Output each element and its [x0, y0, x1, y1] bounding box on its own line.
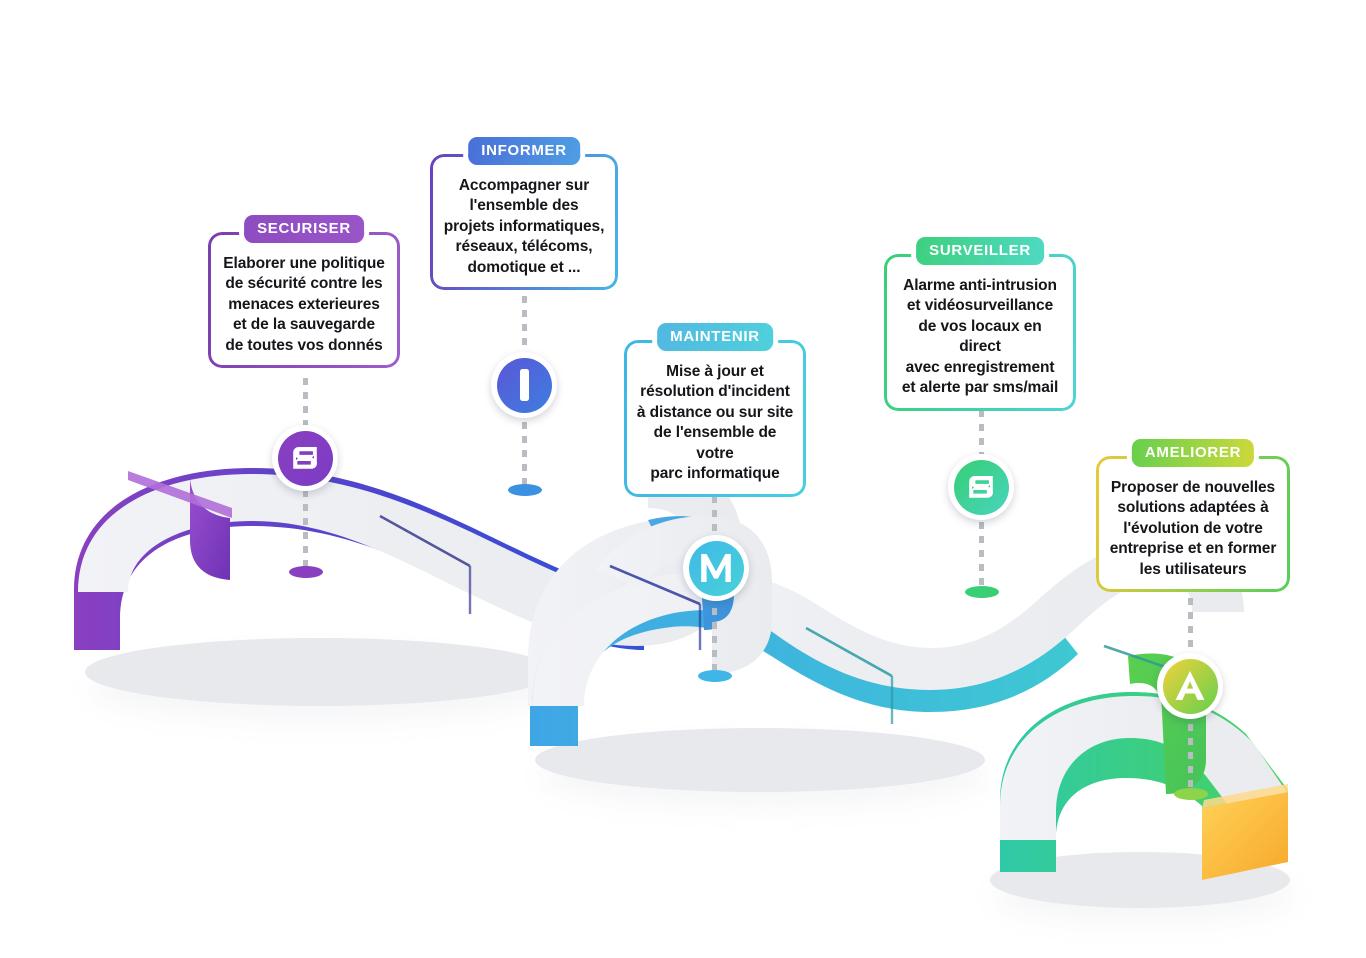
arrow-up-a-icon [1174, 670, 1206, 702]
card-informer[interactable]: INFORMER Accompagner sur l'ensemble des … [430, 154, 618, 290]
card-text-maintenir: Mise à jour et résolution d'incident à d… [636, 362, 794, 485]
card-text-securiser: Elaborer une politique de sécurité contr… [220, 254, 388, 356]
badge-informer: INFORMER [468, 137, 580, 165]
ground-dot-informer [508, 484, 542, 496]
ground-dot-maintenir [698, 670, 732, 682]
card-text-informer: Accompagner sur l'ensemble des projets i… [442, 176, 606, 278]
shield-s-icon [966, 470, 996, 504]
infographic-canvas: SECURISER Elaborer une politique de sécu… [0, 0, 1366, 958]
ground-dot-ameliorer [1174, 788, 1208, 800]
card-text-surveiller: Alarme anti-intrusion et vidéosurveillan… [896, 276, 1064, 399]
information-i-icon [518, 369, 531, 401]
maintenance-m-icon [699, 552, 733, 584]
badge-surveiller: SURVEILLER [916, 237, 1044, 265]
badge-ameliorer: AMELIORER [1132, 439, 1254, 467]
card-maintenir[interactable]: MAINTENIR Mise à jour et résolution d'in… [624, 340, 806, 497]
milestone-marker-ameliorer[interactable] [1157, 653, 1223, 719]
card-ameliorer[interactable]: AMELIORER Proposer de nouvelles solution… [1096, 456, 1290, 592]
badge-maintenir: MAINTENIR [657, 323, 773, 351]
milestone-marker-surveiller[interactable] [948, 454, 1014, 520]
ground-dot-surveiller [965, 586, 999, 598]
milestone-marker-informer[interactable] [491, 352, 557, 418]
badge-securiser: SECURISER [244, 215, 364, 243]
card-securiser[interactable]: SECURISER Elaborer une politique de sécu… [208, 232, 400, 368]
ground-dot-securiser [289, 566, 323, 578]
milestone-marker-securiser[interactable] [272, 425, 338, 491]
milestone-marker-maintenir[interactable] [683, 535, 749, 601]
card-surveiller[interactable]: SURVEILLER Alarme anti-intrusion et vidé… [884, 254, 1076, 411]
card-text-ameliorer: Proposer de nouvelles solutions adaptées… [1108, 478, 1278, 580]
shield-s-icon [290, 441, 320, 475]
